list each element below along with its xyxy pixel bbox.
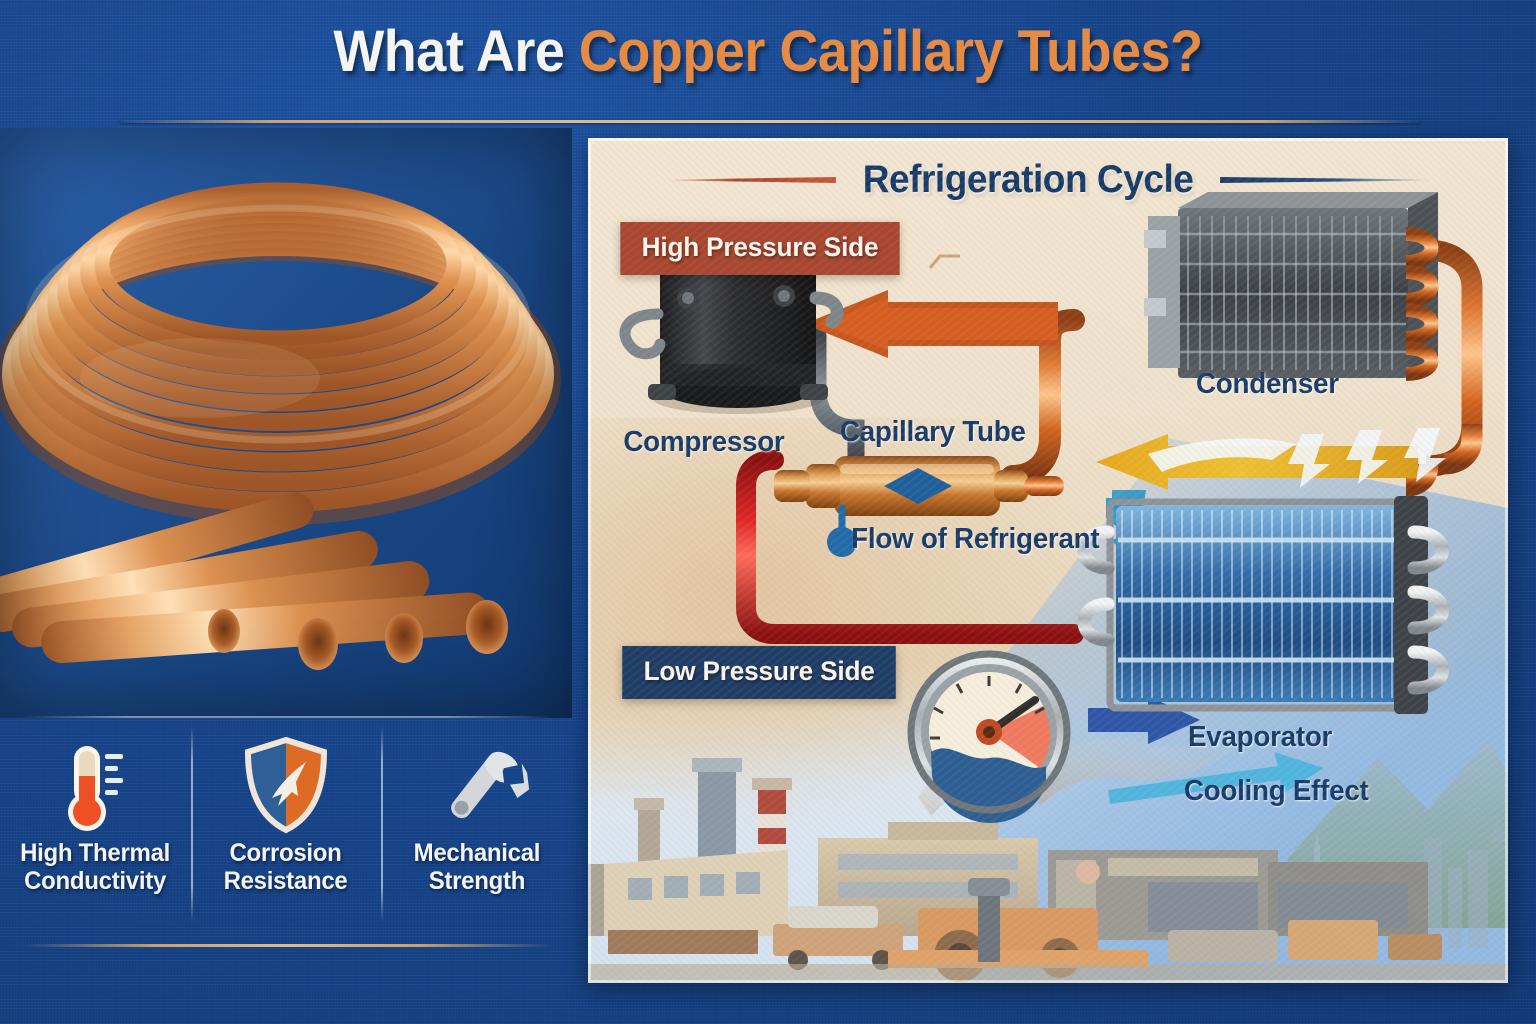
- thermometer-icon: [50, 732, 140, 840]
- diagram-heading: Refrigeration Cycle: [588, 158, 1508, 202]
- feature-strip: High Thermal Conductivity C: [0, 718, 572, 948]
- title-divider: [120, 120, 1420, 123]
- cooling-effect-label: Cooling Effect: [1184, 775, 1369, 808]
- low-pressure-badge: Low Pressure Side: [622, 646, 896, 699]
- diagram-heading-text: Refrigeration Cycle: [863, 158, 1194, 202]
- pressure-gauge-icon: [911, 654, 1067, 962]
- evaporator-return-arrow: [1088, 696, 1200, 744]
- photo-vignette: [0, 128, 572, 718]
- refrigeration-cycle-panel: Refrigeration Cycle High Pressure Side L…: [588, 138, 1508, 983]
- wrench-icon: [424, 732, 529, 840]
- page-title-white-part: What Are: [333, 19, 579, 84]
- heading-rule-right: [1220, 177, 1430, 183]
- feature-label-corrosion: Corrosion Resistance: [224, 840, 348, 895]
- condenser-icon: [1144, 192, 1438, 378]
- page-title-orange-part: Copper Capillary Tubes?: [579, 19, 1203, 84]
- feature-item-mechanical-strength: Mechanical Strength: [381, 718, 572, 948]
- evaporator-label: Evaporator: [1188, 721, 1332, 754]
- feature-item-corrosion-resistance: Corrosion Resistance: [191, 718, 382, 948]
- flow-of-refrigerant-label: Flow of Refrigerant: [851, 523, 1099, 556]
- compressor-label: Compressor: [623, 426, 784, 459]
- compressor-to-condenser-arrow: [804, 290, 1058, 358]
- copper-tube-photo: [0, 128, 572, 718]
- feature-label-mechanical: Mechanical Strength: [413, 840, 540, 895]
- condenser-label: Condenser: [1196, 368, 1339, 401]
- shield-icon: [240, 732, 332, 840]
- feature-item-thermal-conductivity: High Thermal Conductivity: [0, 718, 191, 948]
- heading-rule-left: [666, 177, 836, 183]
- page-title: What Are Copper Capillary Tubes?: [0, 18, 1536, 85]
- feature-label-thermal: High Thermal Conductivity: [20, 840, 170, 895]
- feature-strip-bottom-divider: [22, 944, 552, 947]
- capillary-tube-label: Capillary Tube: [840, 416, 1026, 449]
- high-pressure-badge: High Pressure Side: [620, 222, 899, 275]
